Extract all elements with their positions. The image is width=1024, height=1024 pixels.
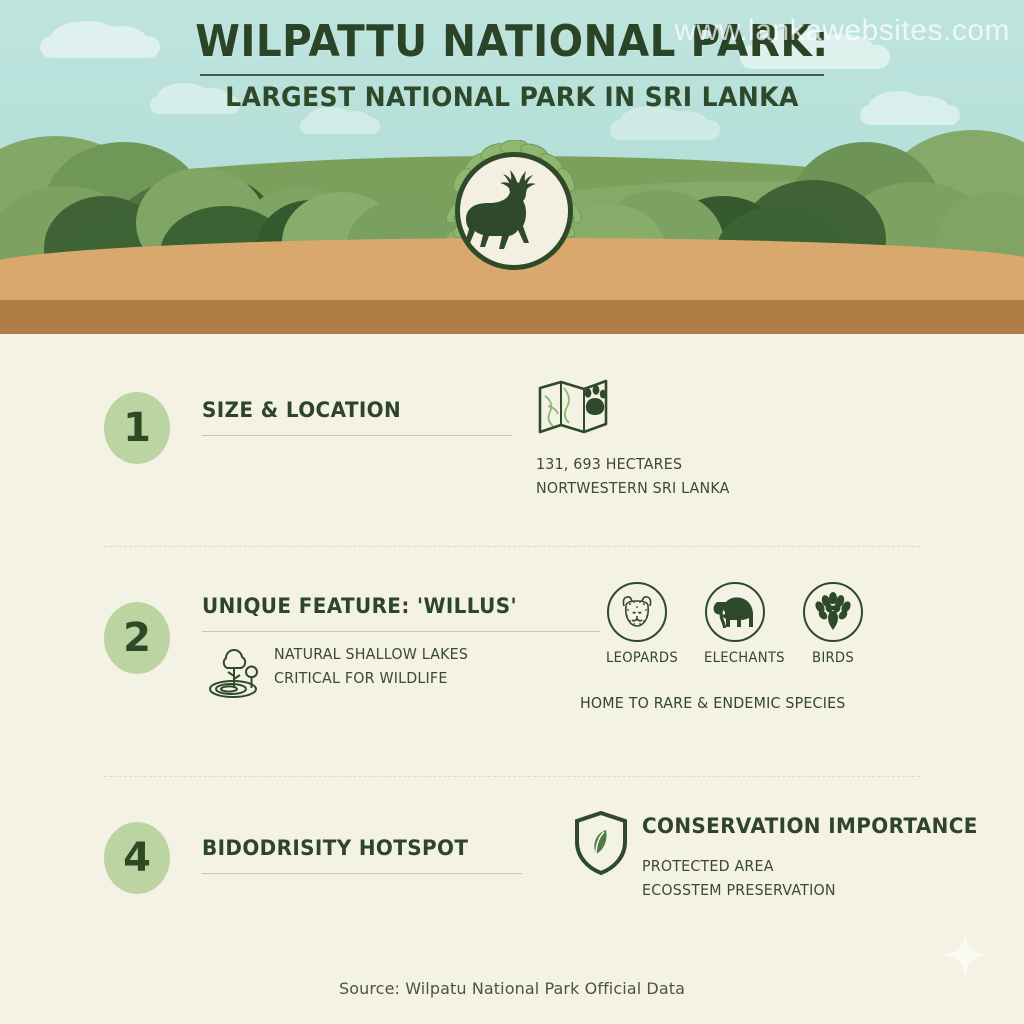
section-title: SIZE & LOCATION	[202, 398, 497, 422]
conservation-line-2: ECOSSTEM PRESERVATION	[642, 878, 978, 902]
content-area: 1 SIZE & LOCATION	[0, 334, 1024, 1024]
sparkle-icon	[942, 932, 988, 978]
peacock-silhouette-icon	[811, 591, 855, 633]
page-subtitle: LARGEST NATIONAL PARK IN SRI LANKA	[36, 82, 988, 113]
section-heading-group: BIDODRISITY HOTSPOT	[202, 836, 522, 874]
section-heading-group: SIZE & LOCATION	[202, 398, 512, 436]
watermark: www.lankawebsites.com	[674, 14, 1010, 48]
size-value: 131, 693 HECTARES	[536, 452, 730, 476]
leopard-face-icon	[615, 590, 659, 634]
section-heading-group: UNIQUE FEATURE: 'WILLUS'	[202, 594, 600, 632]
cloud-icon	[610, 120, 720, 140]
paw-print-icon	[585, 385, 607, 415]
elephant-silhouette-icon	[712, 592, 758, 632]
species-note: HOME TO RARE & ENDEMIC SPECIES	[580, 694, 846, 712]
species-label: LEOPARDS	[606, 650, 668, 666]
deer-silhouette-icon	[455, 152, 573, 270]
section-number-badge: 4	[104, 822, 170, 894]
cloud-icon	[300, 118, 380, 134]
conservation-detail: CONSERVATION IMPORTANCE PROTECTED AREA E…	[572, 810, 995, 903]
section-title-underline	[202, 435, 512, 436]
species-birds: BIRDS	[800, 582, 866, 666]
species-elephants: ELECHANTS	[702, 582, 768, 666]
source-footer: Source: Wilpatu National Park Official D…	[0, 979, 1024, 998]
tree-lake-icon	[206, 646, 264, 700]
species-leopards: LEOPARDS	[604, 582, 670, 666]
conservation-line-1: PROTECTED AREA	[642, 854, 978, 878]
elephant-icon	[705, 582, 765, 642]
willus-line-1: NATURAL SHALLOW LAKES	[274, 642, 468, 666]
conservation-title: CONSERVATION IMPORTANCE	[642, 814, 978, 838]
leopard-icon	[607, 582, 667, 642]
deer-emblem-icon	[455, 152, 573, 270]
location-value: NORTWESTERN SRI LANKA	[536, 476, 730, 500]
section-number-badge: 2	[104, 602, 170, 674]
section-divider	[104, 776, 920, 777]
species-icon-row: LEOPARDS ELECHANTS	[604, 582, 866, 666]
peacock-icon	[803, 582, 863, 642]
section-divider	[104, 546, 920, 547]
section-title: BIDODRISITY HOTSPOT	[202, 836, 506, 860]
title-divider	[200, 74, 824, 76]
infographic-page: WILPATTU NATIONAL PARK: LARGEST NATIONAL…	[0, 0, 1024, 1024]
section-title: UNIQUE FEATURE: 'WILLUS'	[202, 594, 580, 618]
soil-band	[0, 300, 1024, 334]
shield-leaf-icon	[572, 810, 630, 876]
species-label: BIRDS	[802, 650, 864, 666]
willus-detail: NATURAL SHALLOW LAKES CRITICAL FOR WILDL…	[206, 642, 478, 700]
section-title-underline	[202, 873, 522, 874]
section-number-badge: 1	[104, 392, 170, 464]
section-title-underline	[202, 631, 600, 632]
header-banner: WILPATTU NATIONAL PARK: LARGEST NATIONAL…	[0, 0, 1024, 334]
willus-line-2: CRITICAL FOR WILDLIFE	[274, 666, 468, 690]
folded-map-paw-icon	[536, 376, 610, 438]
species-label: ELECHANTS	[704, 650, 766, 666]
size-location-detail: 131, 693 HECTARES NORTWESTERN SRI LANKA	[536, 376, 740, 501]
